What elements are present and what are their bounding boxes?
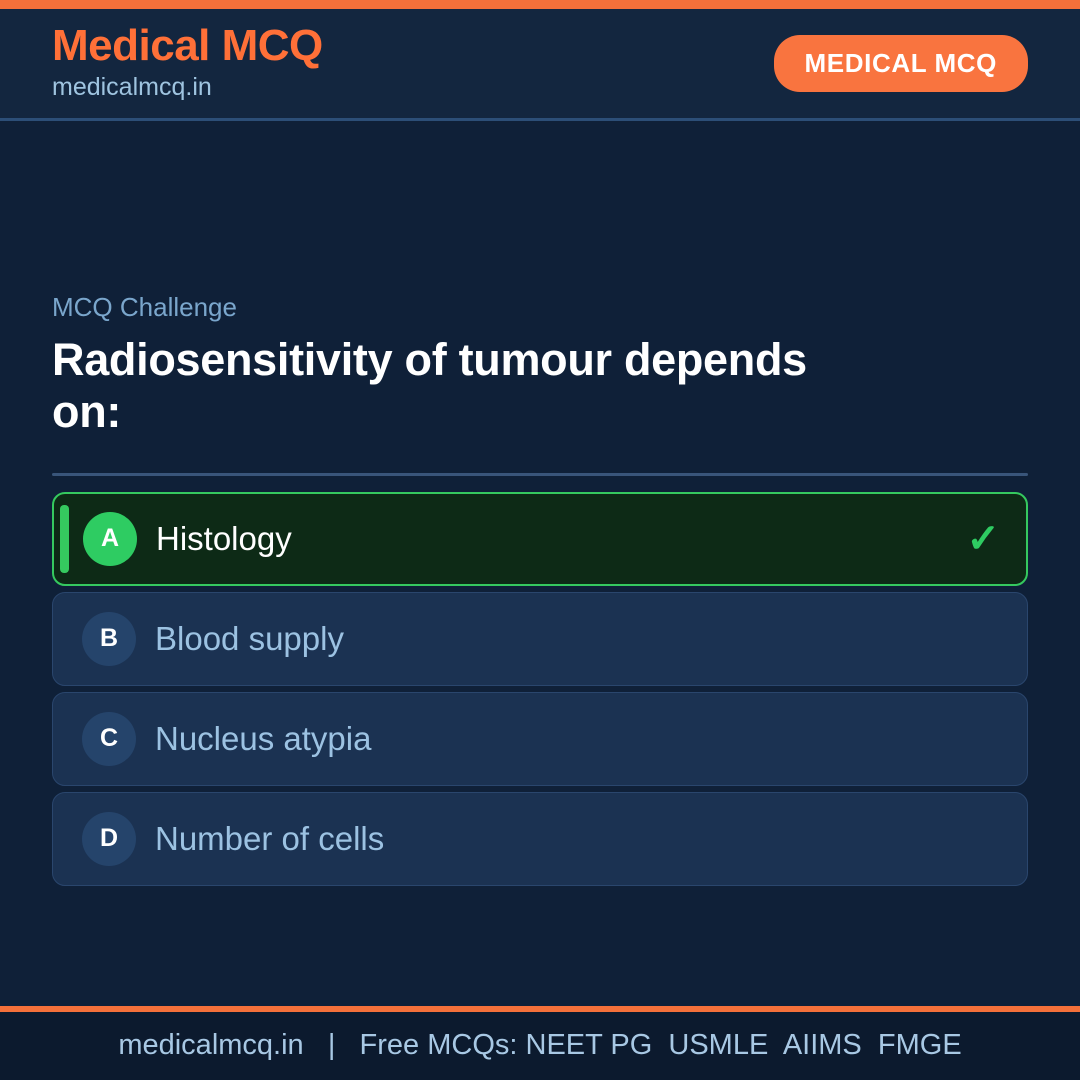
question-text: Radiosensitivity of tumour depends on: <box>52 334 882 438</box>
footer-text: medicalmcq.in | Free MCQs: NEET PG USMLE… <box>118 1030 961 1062</box>
mcq-card: Medical MCQ medicalmcq.in MEDICAL MCQ MC… <box>0 0 1080 1080</box>
option-badge-b: B <box>82 612 136 666</box>
option-row-c[interactable]: C Nucleus atypia <box>52 692 1028 786</box>
check-icon: ✓ <box>966 519 1000 559</box>
option-badge-c: C <box>82 712 136 766</box>
header: Medical MCQ medicalmcq.in MEDICAL MCQ <box>0 9 1080 121</box>
option-badge-a: A <box>83 512 137 566</box>
option-label-d: Number of cells <box>155 821 1001 857</box>
option-label-a: Histology <box>156 521 966 557</box>
brand-title: Medical MCQ <box>52 24 323 69</box>
eyebrow-label: MCQ Challenge <box>52 293 1028 322</box>
section-divider <box>52 473 1028 476</box>
main-content: MCQ Challenge Radiosensitivity of tumour… <box>0 121 1080 1006</box>
option-row-d[interactable]: D Number of cells <box>52 792 1028 886</box>
option-label-c: Nucleus atypia <box>155 721 1001 757</box>
options-list: A Histology ✓ B Blood supply C Nucleus a… <box>52 492 1028 886</box>
option-row-b[interactable]: B Blood supply <box>52 592 1028 686</box>
bottom-spacer <box>52 886 1028 1006</box>
brand: Medical MCQ medicalmcq.in <box>52 24 323 103</box>
header-badge: MEDICAL MCQ <box>774 35 1028 92</box>
option-label-b: Blood supply <box>155 621 1001 657</box>
top-accent-bar <box>0 0 1080 9</box>
top-spacer <box>52 121 1028 293</box>
brand-subtitle: medicalmcq.in <box>52 72 323 103</box>
option-badge-d: D <box>82 812 136 866</box>
option-row-a[interactable]: A Histology ✓ <box>52 492 1028 586</box>
footer: medicalmcq.in | Free MCQs: NEET PG USMLE… <box>0 1012 1080 1080</box>
correct-accent-bar <box>60 505 69 573</box>
